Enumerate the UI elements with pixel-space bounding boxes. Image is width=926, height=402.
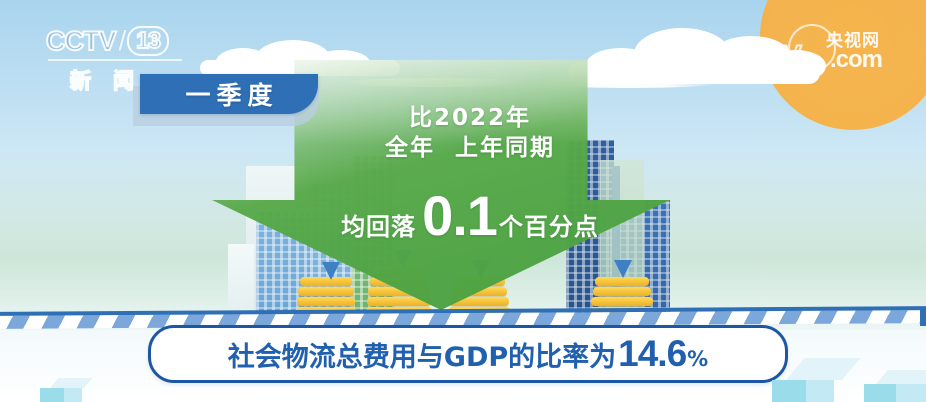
headline-banner-content: 社会物流总费用与GDP的比率为 14.6 % — [228, 333, 708, 375]
center-line-1: 比2022年 — [280, 104, 660, 133]
cctv-com-watermark: 央视网 CCTV .com — [726, 34, 904, 78]
cctv-brand-text: CCTV — [46, 28, 116, 55]
stat-prefix-label: 均回落 — [341, 207, 416, 242]
headline-banner: 社会物流总费用与GDP的比率为 14.6 % — [148, 325, 788, 383]
watermark-brand-text: CCTV — [726, 40, 800, 74]
stat-suffix-label: 个百分点 — [499, 207, 599, 242]
cargo-box-1 — [772, 358, 846, 402]
down-arrow-icon-1 — [322, 262, 340, 280]
down-arrow-icon-4 — [614, 260, 632, 278]
stat-number-value: 0.1 — [422, 190, 497, 242]
center-stat-row: 均回落 0.1 个百分点 — [280, 190, 660, 242]
cctv-channel-number: 13 — [127, 26, 169, 56]
quarter-badge-label: 一季度 — [179, 76, 278, 112]
cctv-logo-row: CCTV / 13 — [46, 26, 192, 56]
cctv-logo-divider — [48, 59, 182, 61]
headline-number: 14.6 — [618, 333, 686, 375]
cargo-box-3 — [40, 378, 84, 402]
cctv-sub-label-char1: 新 — [70, 65, 91, 95]
headline-percent-sign: % — [687, 347, 708, 371]
cctv-slash: / — [119, 27, 126, 55]
cctv-sub-label-char2: 闻 — [113, 65, 134, 95]
cargo-box-2 — [864, 370, 926, 402]
watermark-domain-text: .com — [830, 46, 882, 74]
center-line-2: 全年 上年同期 — [280, 133, 660, 164]
center-statistic-panel: 比2022年 全年 上年同期 均回落 0.1 个百分点 — [280, 104, 660, 242]
broadcast-graphic-stage: CCTV / 13 新 闻 央视网 CCTV .com — [0, 0, 926, 402]
building-pale-4 — [228, 244, 254, 316]
barrier-end-cap — [920, 309, 926, 326]
headline-text: 社会物流总费用与GDP的比率为 — [228, 335, 616, 374]
